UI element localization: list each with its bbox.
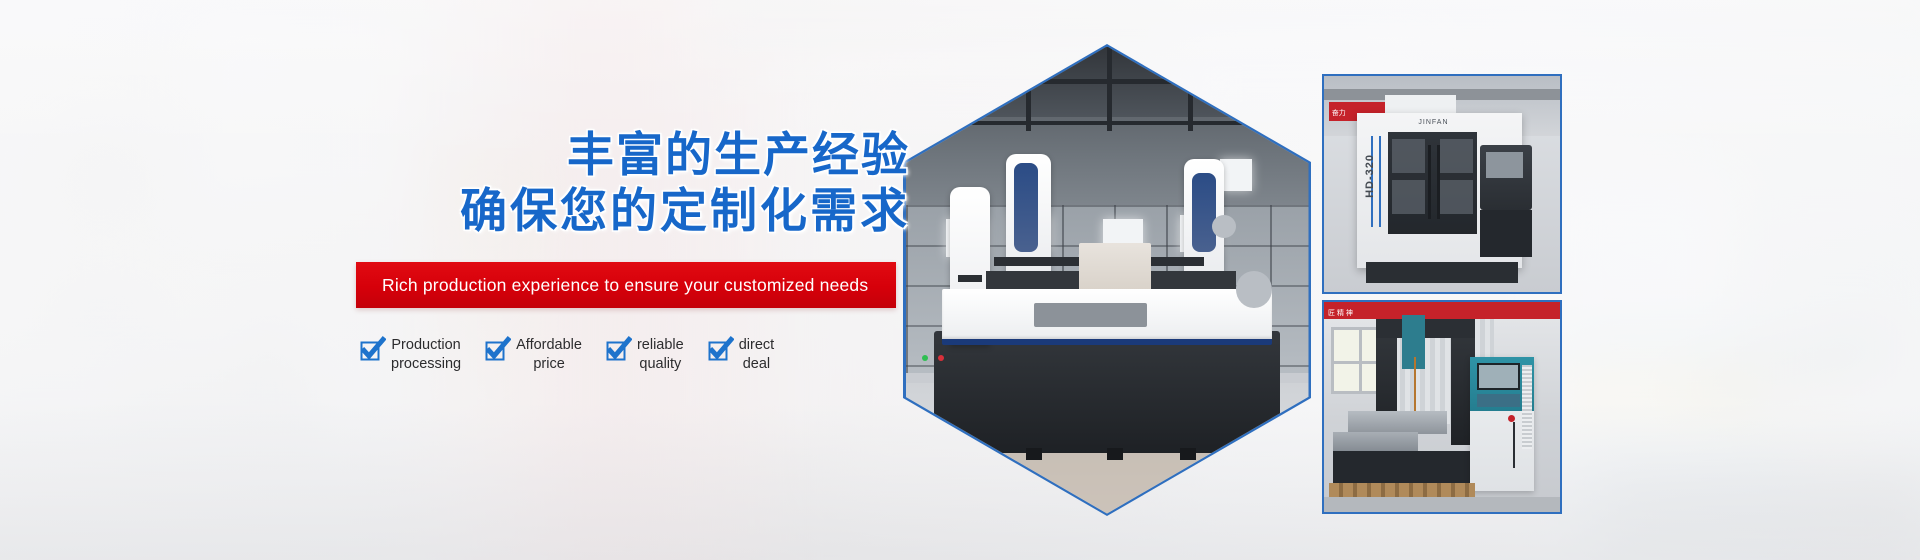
machine-rail — [958, 275, 982, 282]
thumb2-keypad — [1477, 394, 1519, 407]
thumb2-wall-banner-text: 匠 精 神 — [1324, 310, 1353, 317]
checkbox-checked-icon — [360, 341, 382, 363]
headline-line-1: 丰富的生产经验 — [356, 128, 910, 184]
machine-foot — [1180, 448, 1196, 460]
thumb1-door-handle — [1428, 145, 1431, 218]
thumb1-machine-plinth — [1366, 262, 1517, 284]
thumb1-model-label: HD-320 — [1364, 154, 1376, 198]
feature-label: Production processing — [391, 332, 461, 374]
checkbox-checked-icon — [485, 341, 507, 363]
roof-purlin — [954, 56, 959, 131]
feature-label: Affordable price — [516, 332, 582, 374]
subtitle-bar: Rich production experience to ensure you… — [356, 262, 896, 308]
headline: 丰富的生产经验 确保您的定制化需求 — [356, 128, 916, 240]
thumbnail-edm-machine[interactable]: 匠 精 神 — [1322, 300, 1562, 514]
banner-copy-block: 丰富的生产经验 确保您的定制化需求 Rich production experi… — [356, 128, 916, 374]
thumb1-control-box — [1480, 210, 1532, 258]
roof-purlin — [1107, 47, 1112, 131]
machine-spindle-cover — [1014, 163, 1038, 252]
thumb2-control-screen — [1477, 363, 1519, 390]
factory-window — [1220, 159, 1252, 192]
feature-label: direct deal — [739, 332, 774, 374]
thumb1-door-glass — [1392, 180, 1425, 215]
feature-list: Production processing Affordable price r… — [356, 332, 916, 374]
thumb2-machine-base — [1333, 451, 1470, 485]
feature-item-affordable-price[interactable]: Affordable price — [485, 332, 582, 374]
thumb1-door-handle — [1437, 145, 1440, 218]
roof-purlin — [1256, 56, 1261, 131]
machine-foot — [1026, 448, 1042, 460]
thumb1-door-glass — [1440, 139, 1473, 174]
thumb1-door-glass — [1392, 139, 1425, 174]
subtitle-text: Rich production experience to ensure you… — [356, 275, 868, 296]
machine-red-button — [938, 355, 944, 361]
checkbox-checked-icon — [606, 341, 628, 363]
thumb1-wall-banner-text: 奋力 — [1329, 110, 1346, 117]
thumb2-work-tank — [1348, 411, 1447, 434]
machine-green-button — [922, 355, 928, 361]
thumb1-brand-label: JINFAN — [1418, 119, 1448, 126]
hexagon-photo-content: 定 一 切 — [906, 47, 1309, 514]
thumb1-control-screen — [1486, 152, 1524, 178]
hexagon-photo[interactable]: 定 一 切 — [903, 44, 1311, 516]
machine-tool-changer — [1236, 271, 1272, 308]
feature-item-reliable-quality[interactable]: reliable quality — [606, 332, 684, 374]
thumb2-wall-banner: 匠 精 神 — [1324, 302, 1560, 319]
machine-base — [934, 331, 1281, 452]
headline-line-2: 确保您的定制化需求 — [356, 184, 910, 240]
feature-label: reliable quality — [637, 332, 684, 374]
machine-foot — [1107, 448, 1123, 460]
thumb1-accent-stripe — [1379, 136, 1381, 227]
thumbnail-hd320-machining-center[interactable]: 奋力 JINFAN HD-320 — [1322, 74, 1562, 294]
feature-item-direct-deal[interactable]: direct deal — [708, 332, 774, 374]
machine-tool-head — [1212, 215, 1236, 238]
thumb1-door-glass — [1440, 180, 1473, 215]
feature-item-production-processing[interactable]: Production processing — [360, 332, 461, 374]
roof-purlin — [1188, 47, 1193, 131]
machine-table-window — [1034, 303, 1147, 326]
thumb2-cabinet-vent — [1522, 365, 1531, 449]
checkbox-checked-icon — [708, 341, 730, 363]
thumb2-cable — [1513, 422, 1515, 468]
thumb2-floor — [1324, 497, 1560, 512]
machine-spindle-cover — [1192, 173, 1216, 252]
